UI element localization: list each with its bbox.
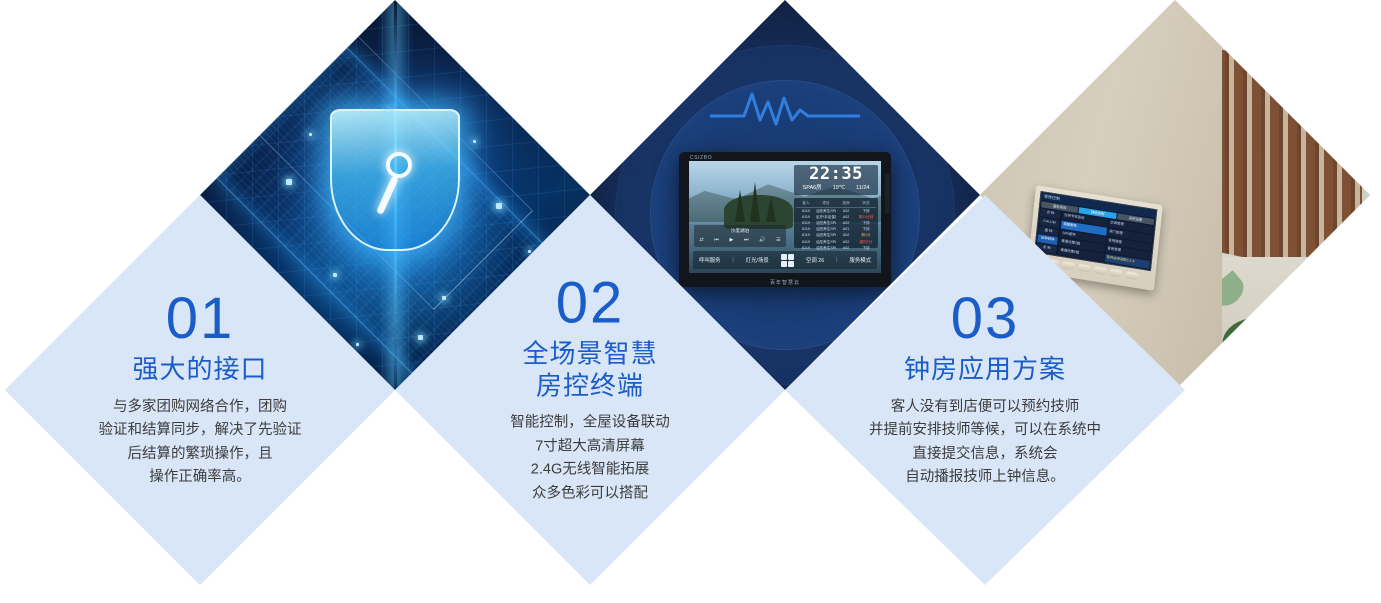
panel-desc-03: 客人没有到店便可以预约技师 并提前安排技师等候，可以在系统中 直接提交信息，系统… — [820, 396, 1150, 490]
panel-desc-line: 操作正确率高。 — [50, 466, 350, 489]
infographic-stage: CSIZBO 22:35 SPA6房 19℃ 11/24 — [0, 0, 1381, 603]
cell-item: 油压养生SPA — [816, 245, 836, 251]
media-controls[interactable]: ⇄ ⏮ ▶ ⏭ 🔊 ☰ — [694, 237, 786, 243]
room-label: SPA6房 — [803, 184, 822, 192]
panel-title-01: 强大的接口 — [50, 354, 350, 386]
aircon-button[interactable]: 空调 26 — [806, 256, 824, 264]
next-icon[interactable]: ⏭ — [744, 237, 749, 243]
panel-desc-line: 并提前安排技师等候，可以在系统中 — [820, 419, 1150, 442]
call-service-button[interactable]: 呼叫服务 — [699, 256, 721, 264]
panel-desc-line: 直接提交信息，系统会 — [820, 443, 1150, 466]
divider: | — [836, 257, 837, 263]
service-list-widget[interactable]: 客人 项目 技师 状态 8119 油压养生SPA A02 下钟 8119 足疗/… — [794, 198, 878, 248]
photo-wood-partition — [1198, 45, 1362, 283]
col-status: 状态 — [856, 200, 876, 206]
divider: | — [732, 257, 733, 263]
col-item: 项目 — [816, 200, 836, 206]
room-control-terminal[interactable]: CSIZBO 22:35 SPA6房 19℃ 11/24 — [679, 152, 891, 287]
terminal-screen[interactable]: 22:35 SPA6房 19℃ 11/24 客人 项目 技师 状态 — [689, 161, 881, 273]
clock-time: 22:35 — [794, 165, 878, 184]
panel-title-02: 全场景智慧 房控终端 — [440, 338, 740, 401]
photo-plant — [1266, 343, 1319, 387]
media-player-widget[interactable]: 沙度湖泊 ⇄ ⏮ ▶ ⏭ 🔊 ☰ — [694, 225, 786, 247]
temperature-label: 19℃ — [833, 184, 845, 192]
play-icon[interactable]: ▶ — [729, 237, 733, 243]
apps-grid-icon[interactable] — [781, 254, 795, 268]
terminal-logo-label: 百年智慧云 — [679, 279, 891, 286]
previous-icon[interactable]: ⏮ — [714, 237, 719, 243]
panel-desc-line: 7寸超大高清屏幕 — [440, 435, 740, 458]
panel-desc-line: 自动播报技师上钟信息。 — [820, 466, 1150, 489]
volume-icon[interactable]: 🔊 — [759, 237, 765, 243]
panel-desc-line: 众多色彩可以搭配 — [440, 482, 740, 505]
col-tech: 技师 — [836, 200, 856, 206]
cell-status: 下钟 — [856, 245, 876, 251]
hardware-button[interactable] — [1108, 269, 1122, 278]
panel-desc-line: 后结算的繁琐操作，且 — [50, 443, 350, 466]
clock-widget: 22:35 SPA6房 19℃ 11/24 — [794, 165, 878, 195]
lighting-scene-button[interactable]: 灯光/场景 — [746, 256, 769, 264]
cell-tech: A02 — [836, 245, 856, 251]
wallpaper-tree — [735, 190, 745, 222]
hardware-button[interactable] — [1093, 266, 1107, 275]
wallpaper-tree — [750, 182, 760, 222]
pulse-wave-icon — [710, 86, 860, 130]
panel-desc-02: 智能控制，全屋设备联动 7寸超大高清屏幕 2.4G无线智能拓展 众多色彩可以搭配 — [440, 412, 740, 506]
clock-subinfo: SPA6房 19℃ 11/24 — [794, 184, 878, 192]
list-icon[interactable]: ☰ — [776, 237, 780, 243]
date-label: 11/24 — [856, 184, 869, 192]
wallpaper-tree — [766, 196, 776, 222]
hardware-button[interactable] — [1077, 264, 1091, 273]
cell-guest: 8119 — [796, 245, 816, 251]
panel-desc-line: 客人没有到店便可以预约技师 — [820, 396, 1150, 419]
terminal-bottom-bar[interactable]: 呼叫服务 | 灯光/场景 空调 26 | 服务模式 — [693, 251, 877, 269]
panel-title-03: 钟房应用方案 — [820, 354, 1150, 386]
panel-title-line: 钟房应用方案 — [820, 354, 1150, 386]
col-guest: 客人 — [796, 200, 816, 206]
service-mode-button[interactable]: 服务模式 — [849, 256, 871, 264]
panel-title-line: 全场景智慧 — [440, 338, 740, 370]
terminal-side-strip — [885, 174, 890, 214]
panel-title-line: 房控终端 — [440, 370, 740, 402]
hardware-button[interactable] — [1061, 261, 1075, 270]
service-list-header: 客人 项目 技师 状态 — [796, 200, 876, 207]
panel-desc-line: 智能控制，全屋设备联动 — [440, 412, 740, 435]
panel-desc-line: 与多家团购网络合作，团购 — [50, 396, 350, 419]
panel-desc-line: 验证和结算同步，解决了先验证 — [50, 419, 350, 442]
panel-desc-01: 与多家团购网络合作，团购 验证和结算同步，解决了先验证 后结算的繁琐操作，且 操… — [50, 396, 350, 490]
panel-desc-line: 2.4G无线智能拓展 — [440, 459, 740, 482]
media-title: 沙度湖泊 — [694, 228, 786, 234]
hardware-button[interactable] — [1124, 271, 1138, 280]
shuffle-icon[interactable]: ⇄ — [699, 237, 703, 243]
panel-title-line: 强大的接口 — [50, 354, 350, 386]
service-list-row: 8119 油压养生SPA A02 下钟 — [796, 245, 876, 251]
